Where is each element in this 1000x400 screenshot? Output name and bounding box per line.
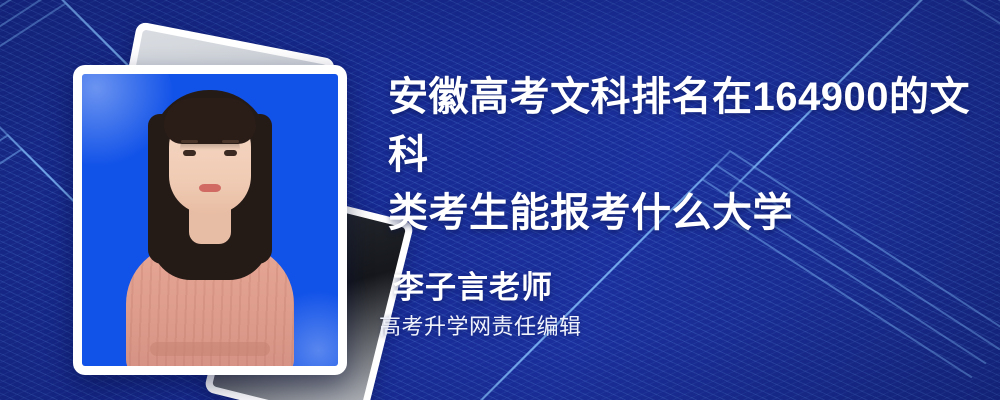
page-title: 安徽高考文科排名在164900的文科 类考生能报考什么大学 <box>388 68 970 242</box>
byline: 李子言老师 高考升学网责任编辑 <box>393 268 582 342</box>
portrait-dress-waist <box>150 342 270 356</box>
portrait-lips <box>199 184 221 192</box>
portrait-figure <box>82 74 338 366</box>
headline-line-1: 安徽高考文科排名在164900的文科 <box>388 68 970 184</box>
portrait-eyebrow-left <box>181 140 198 143</box>
photo-card-front <box>73 65 347 375</box>
author-role: 高考升学网责任编辑 <box>379 312 582 342</box>
portrait-eye-right <box>224 150 237 156</box>
portrait-eyebrow-right <box>222 140 239 143</box>
portrait-eye-left <box>183 150 196 156</box>
headline-line-2: 类考生能报考什么大学 <box>388 184 970 242</box>
banner-text-block: 安徽高考文科排名在164900的文科 类考生能报考什么大学 李子言老师 高考升学… <box>388 0 970 400</box>
author-name: 李子言老师 <box>393 268 582 308</box>
portrait-photo <box>82 74 338 366</box>
article-banner: 安徽高考文科排名在164900的文科 类考生能报考什么大学 李子言老师 高考升学… <box>0 0 1000 400</box>
portrait-photo-stack <box>55 30 375 370</box>
portrait-hair-fringe <box>164 98 256 144</box>
